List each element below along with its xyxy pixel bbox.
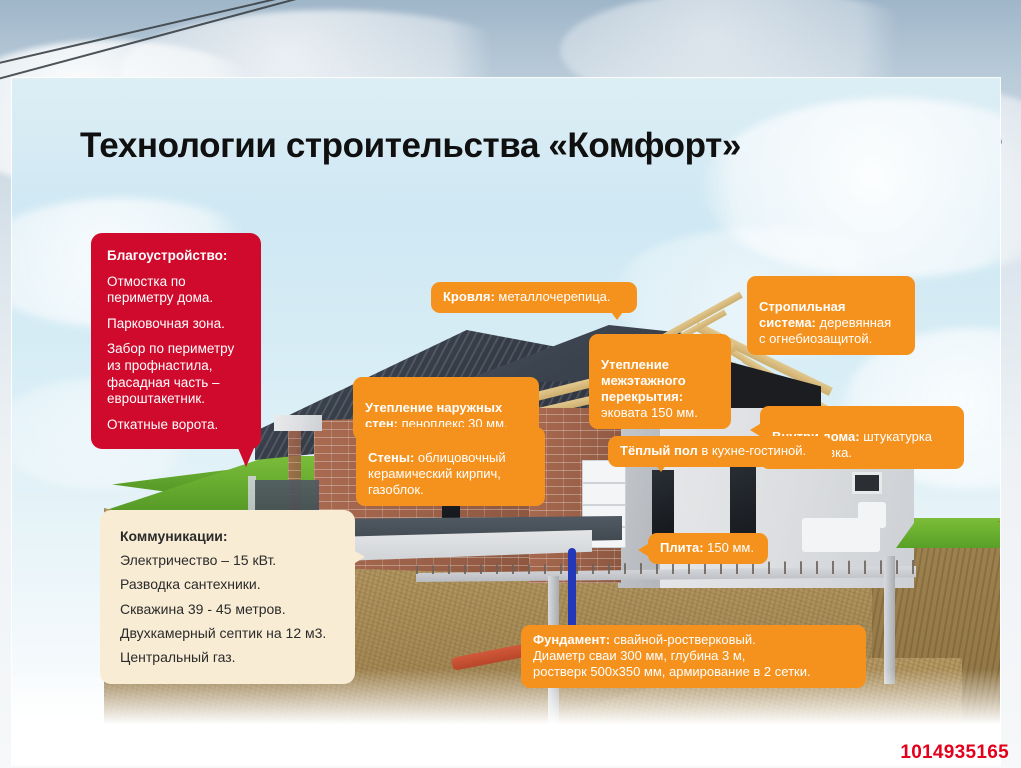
callout-floor-insulation[interactable]: Утепление межэтажного перекрытия: эковат… <box>589 334 731 429</box>
callout-warm-floor-text: в кухне-гостиной. <box>698 443 806 458</box>
house-doorway <box>652 470 674 538</box>
callout-landscaping-line: Забор по периметру из профнастила, фасад… <box>107 341 245 407</box>
house-porch-ceiling <box>274 415 322 431</box>
callout-floor-insulation-heading: Утепление межэтажного перекрытия: <box>601 357 686 404</box>
callout-roofing[interactable]: Кровля: металлочерепица. <box>431 282 637 313</box>
callout-walls[interactable]: Стены: облицовочный керамический кирпич,… <box>356 427 545 506</box>
callout-slab-heading: Плита: <box>660 540 704 555</box>
callout-landscaping[interactable]: Благоустройство: Отмостка по периметру д… <box>91 233 261 449</box>
interior-shelf <box>582 504 626 506</box>
callout-warm-floor[interactable]: Тёплый пол в кухне-гостиной. <box>608 436 832 467</box>
callout-utilities[interactable]: Коммуникации: Электричество – 15 кВт. Ра… <box>100 510 355 684</box>
callout-foundation-text: свайной-ростверковый. <box>610 632 756 647</box>
callout-utilities-line: Скважина 39 - 45 метров. <box>120 601 335 618</box>
callout-landscaping-line: Парковочная зона. <box>107 316 245 333</box>
interior-shelf <box>582 482 626 484</box>
callout-slab[interactable]: Плита: 150 мм. <box>648 533 768 564</box>
callout-slab-text: 150 мм. <box>704 540 754 555</box>
callout-roofing-text: металлочерепица. <box>495 289 611 304</box>
foundation-pile <box>884 556 895 684</box>
infographic-panel: Кровля: металлочерепица. Стропильная сис… <box>12 78 1000 765</box>
callout-landscaping-line: Отмостка по периметру дома. <box>107 274 245 307</box>
callout-roofing-heading: Кровля: <box>443 289 495 304</box>
interior-wall-picture <box>852 472 882 494</box>
callout-floor-insulation-text: эковата 150 мм. <box>601 405 698 420</box>
power-line-wire <box>0 0 380 66</box>
callout-landscaping-heading: Благоустройство: <box>107 248 245 265</box>
callout-foundation-heading: Фундамент: <box>533 632 610 647</box>
screenshot-viewport: Кровля: металлочерепица. Стропильная сис… <box>0 0 1021 768</box>
callout-foundation[interactable]: Фундамент: свайной-ростверковый. Диаметр… <box>521 625 866 688</box>
power-line-wire <box>0 0 377 82</box>
interior-bed-headboard <box>858 502 886 528</box>
page-title: Технологии строительства «Комфорт» <box>80 126 741 166</box>
callout-truss-system[interactable]: Стропильная система: деревянная с огнеби… <box>747 276 915 355</box>
callout-utilities-heading: Коммуникации: <box>120 528 335 545</box>
callout-walls-heading: Стены: <box>368 450 414 465</box>
watermark-id: 1014935165 <box>900 742 1009 764</box>
callout-foundation-line: ростверк 500х350 мм, армирование в 2 сет… <box>533 664 854 680</box>
callout-warm-floor-heading: Тёплый пол <box>620 443 698 458</box>
callout-foundation-line: Диаметр сваи 300 мм, глубина 3 м, <box>533 648 854 664</box>
panel-cloud <box>702 98 1000 278</box>
callout-utilities-line: Электричество – 15 кВт. <box>120 552 335 569</box>
callout-landscaping-line: Откатные ворота. <box>107 417 245 434</box>
callout-utilities-line: Разводка сантехники. <box>120 576 335 593</box>
callout-utilities-line: Двухкамерный септик на 12 м3. <box>120 625 335 642</box>
callout-utilities-line: Центральный газ. <box>120 649 335 666</box>
